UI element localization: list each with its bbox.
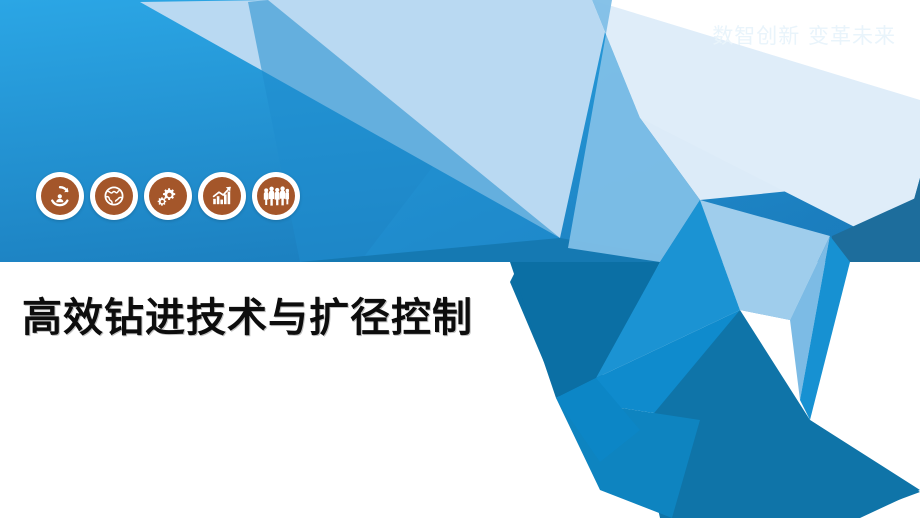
bar-chart-arrow-icon — [203, 177, 241, 215]
icon-badge-people-group[interactable] — [252, 172, 300, 220]
people-group-icon — [257, 177, 295, 215]
recycle-growth-icon — [41, 177, 79, 215]
icon-badge-bar-chart[interactable] — [198, 172, 246, 220]
title-slide: 数智创新 变革未来 — [0, 0, 920, 518]
gears-icon — [149, 177, 187, 215]
background-artwork — [0, 0, 920, 518]
icon-row — [36, 172, 300, 220]
icon-badge-gears[interactable] — [144, 172, 192, 220]
icon-badge-recycle-growth[interactable] — [36, 172, 84, 220]
tagline: 数智创新 变革未来 — [712, 26, 896, 47]
icon-badge-globe[interactable] — [90, 172, 138, 220]
page-title: 高效钻进技术与扩径控制 — [22, 296, 473, 340]
globe-icon — [95, 177, 133, 215]
